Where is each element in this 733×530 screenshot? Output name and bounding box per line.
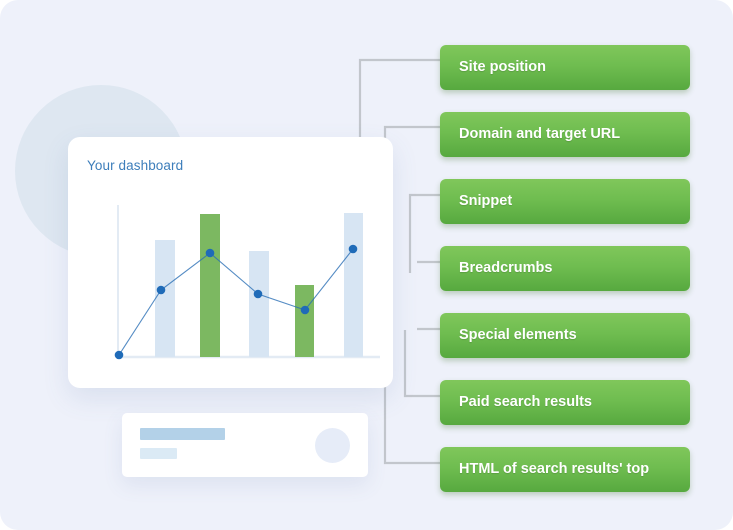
chart-bar-3	[249, 251, 269, 357]
connector-6	[405, 330, 440, 396]
chart-point-1	[115, 351, 124, 360]
connector-2	[385, 127, 440, 192]
step-button-paid-search-results[interactable]: Paid search results	[440, 380, 690, 425]
placeholder-bar-secondary	[140, 448, 177, 459]
chart-point-5	[301, 306, 310, 315]
chart-trend-line	[119, 249, 353, 355]
step-button-snippet[interactable]: Snippet	[440, 179, 690, 224]
step-button-html-of-search-results-top[interactable]: HTML of search results' top	[440, 447, 690, 492]
chart-point-2	[157, 286, 166, 295]
chart-point-3	[206, 249, 215, 258]
placeholder-bar-primary	[140, 428, 225, 440]
step-button-breadcrumbs[interactable]: Breadcrumbs	[440, 246, 690, 291]
infographic-canvas: Your dashboard Site positi	[0, 0, 733, 530]
chart-bar-5	[344, 213, 363, 357]
connector-3	[410, 195, 440, 273]
connector-7	[385, 385, 440, 463]
dashboard-card: Your dashboard	[68, 137, 393, 388]
chart-bar-4	[295, 285, 314, 357]
summary-card	[122, 413, 368, 477]
step-button-site-position[interactable]: Site position	[440, 45, 690, 90]
chart-point-4	[254, 290, 263, 299]
chart-bar-2	[200, 214, 220, 357]
chart-point-6	[349, 245, 358, 254]
avatar	[315, 428, 350, 463]
step-button-domain-and-target-url[interactable]: Domain and target URL	[440, 112, 690, 157]
chart-bar-1	[155, 240, 175, 357]
step-button-special-elements[interactable]: Special elements	[440, 313, 690, 358]
dashboard-chart	[68, 137, 393, 388]
